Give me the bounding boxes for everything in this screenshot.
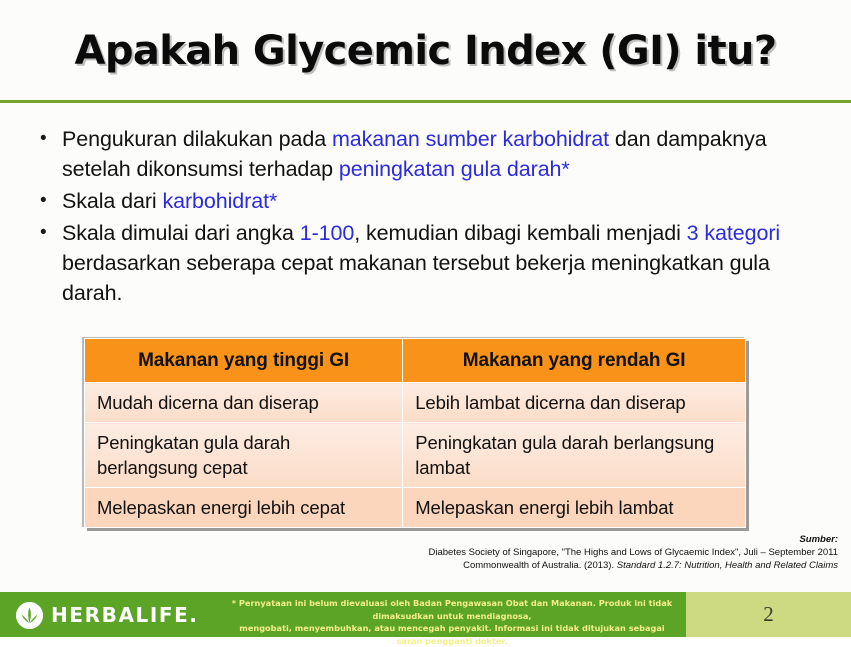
leaf-icon <box>16 602 43 629</box>
bullet-segment: berdasarkan seberapa cepat makanan terse… <box>62 251 770 305</box>
brand-wordmark: HERBALIFE. <box>51 603 199 627</box>
bullet-marker-icon: • <box>32 186 62 216</box>
disclaimer-line-1: * Pernyataan ini belum dievaluasi oleh B… <box>228 597 676 622</box>
table-cell: Peningkatan gula darah berlangsung cepat <box>85 423 403 488</box>
source-label: Sumber: <box>0 533 838 546</box>
column-header-low-gi: Makanan yang rendah GI <box>403 339 746 383</box>
source-line-2-italic: Standard 1.2.7: Nutrition, Health and Re… <box>617 560 838 571</box>
list-item: • Skala dari karbohidrat* <box>32 186 822 216</box>
list-item: • Skala dimulai dari angka 1-100, kemudi… <box>32 218 822 308</box>
bullet-segment: , kemudian dibagi kembali menjadi <box>354 221 686 245</box>
source-citation: Sumber: Diabetes Society of Singapore, "… <box>0 533 838 572</box>
bullet-segment-highlight: karbohidrat* <box>162 189 277 213</box>
bullet-segment-highlight: 1-100 <box>300 221 355 245</box>
table-cell: Melepaskan energi lebih lambat <box>403 488 746 528</box>
page-number-panel: 2 <box>686 592 851 637</box>
slide-canvas: Apakah Glycemic Index (GI) itu? • Penguk… <box>0 0 851 637</box>
bullet-marker-icon: • <box>32 124 62 154</box>
gi-comparison-table-wrapper: Makanan yang tinggi GI Makanan yang rend… <box>84 338 746 528</box>
bullet-segment-highlight: makanan sumber karbohidrat <box>332 127 609 151</box>
page-number: 2 <box>763 602 774 627</box>
title-area: Apakah Glycemic Index (GI) itu? <box>0 18 851 84</box>
table-header-row: Makanan yang tinggi GI Makanan yang rend… <box>85 339 746 383</box>
table-body: Mudah dicerna dan diserap Lebih lambat d… <box>85 383 746 528</box>
bullet-segment-highlight: 3 kategori <box>687 221 780 245</box>
title-divider-rule <box>0 100 851 103</box>
herbalife-logo: HERBALIFE. <box>16 600 199 630</box>
source-line-1: Diabetes Society of Singapore, "The High… <box>0 546 838 559</box>
disclaimer-line-2: mengobati, menyembuhkan, atau mencegah p… <box>228 622 676 647</box>
bullet-segment: Skala dari <box>62 189 162 213</box>
source-line-2: Commonwealth of Australia. (2013). Stand… <box>0 559 838 572</box>
bullet-text: Skala dimulai dari angka 1-100, kemudian… <box>62 218 822 308</box>
table-cell: Mudah dicerna dan diserap <box>85 383 403 423</box>
bullet-text: Pengukuran dilakukan pada makanan sumber… <box>62 124 822 184</box>
table-cell: Lebih lambat dicerna dan diserap <box>403 383 746 423</box>
list-item: • Pengukuran dilakukan pada makanan sumb… <box>32 124 822 184</box>
table-header: Makanan yang tinggi GI Makanan yang rend… <box>85 339 746 383</box>
footer-disclaimer: * Pernyataan ini belum dievaluasi oleh B… <box>228 597 676 647</box>
table-row: Melepaskan energi lebih cepat Melepaskan… <box>85 488 746 528</box>
bullet-list: • Pengukuran dilakukan pada makanan sumb… <box>32 124 822 310</box>
page-title: Apakah Glycemic Index (GI) itu? <box>74 28 776 74</box>
bullet-segment: Skala dimulai dari angka <box>62 221 300 245</box>
gi-comparison-table: Makanan yang tinggi GI Makanan yang rend… <box>84 338 746 528</box>
table-cell: Melepaskan energi lebih cepat <box>85 488 403 528</box>
table-row: Peningkatan gula darah berlangsung cepat… <box>85 423 746 488</box>
bullet-segment-highlight: peningkatan gula darah* <box>339 157 570 181</box>
bullet-segment: Pengukuran dilakukan pada <box>62 127 332 151</box>
slide-footer: HERBALIFE. * Pernyataan ini belum dieval… <box>0 592 851 637</box>
column-header-high-gi: Makanan yang tinggi GI <box>85 339 403 383</box>
table-cell: Peningkatan gula darah berlangsung lamba… <box>403 423 746 488</box>
bullet-marker-icon: • <box>32 218 62 248</box>
bullet-text: Skala dari karbohidrat* <box>62 186 822 216</box>
table-row: Mudah dicerna dan diserap Lebih lambat d… <box>85 383 746 423</box>
source-line-2-plain: Commonwealth of Australia. (2013). <box>463 560 617 571</box>
